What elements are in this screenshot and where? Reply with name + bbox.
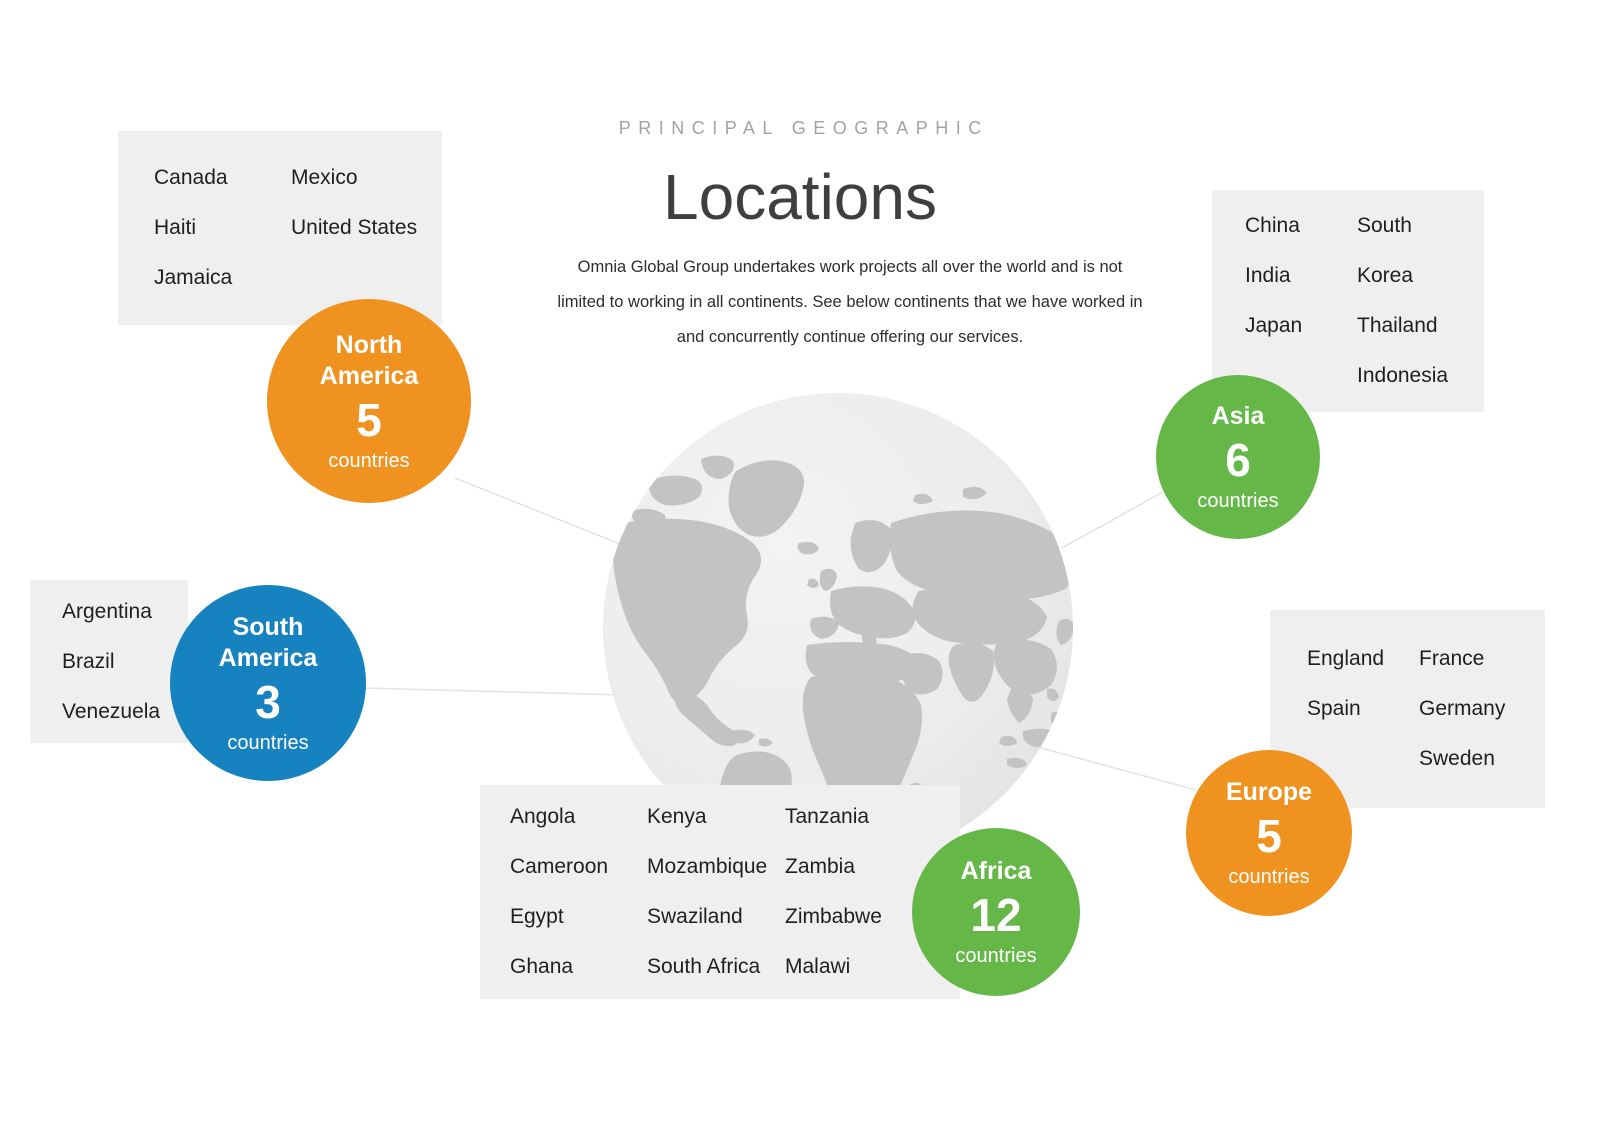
country-item: Angola — [510, 792, 647, 842]
country-item: China — [1245, 201, 1357, 251]
bubble-title-line1: Europe — [1226, 777, 1312, 808]
bubble-count: 12 — [970, 888, 1021, 942]
bubble-unit: countries — [328, 449, 409, 473]
country-item: Jamaica — [154, 253, 291, 303]
country-item: Venezuela — [62, 687, 188, 737]
country-item: Tanzania — [785, 792, 960, 842]
country-item: Germany — [1419, 684, 1545, 734]
bubble-unit: countries — [1197, 489, 1278, 513]
panel-africa-countries: Angola Kenya Tanzania Cameroon Mozambiqu… — [480, 785, 960, 999]
country-item: France — [1419, 634, 1545, 684]
bubble-south-america[interactable]: South America 3 countries — [170, 585, 366, 781]
country-item: Indonesia — [1357, 351, 1484, 401]
bubble-count: 5 — [1256, 809, 1282, 863]
connector-asia — [1062, 487, 1172, 548]
country-item: India — [1245, 251, 1357, 301]
country-item: Sweden — [1419, 734, 1545, 784]
country-item: Thailand — [1357, 301, 1484, 351]
locations-infographic-slide: PRINCIPAL GEOGRAPHIC Locations Omnia Glo… — [0, 0, 1600, 1148]
intro-paragraph: Omnia Global Group undertakes work proje… — [555, 250, 1145, 355]
country-item: Spain — [1307, 684, 1419, 734]
bubble-title-line1: Africa — [961, 856, 1032, 887]
country-item: Mozambique — [647, 842, 785, 892]
country-item: Egypt — [510, 892, 647, 942]
country-item: Japan — [1245, 301, 1357, 351]
bubble-count: 6 — [1225, 433, 1251, 487]
country-item: Ghana — [510, 942, 647, 992]
connector-south-america — [362, 688, 625, 695]
bubble-title-line2: America — [320, 361, 419, 392]
bubble-unit: countries — [227, 731, 308, 755]
bubble-count: 3 — [255, 675, 281, 729]
panel-south-america-countries: Argentina Brazil Venezuela — [30, 580, 188, 743]
bubble-unit: countries — [955, 944, 1036, 968]
bubble-north-america[interactable]: North America 5 countries — [267, 299, 471, 503]
country-item: Argentina — [62, 587, 188, 637]
bubble-africa[interactable]: Africa 12 countries — [912, 828, 1080, 996]
country-item: Korea — [1357, 251, 1484, 301]
country-item: Kenya — [647, 792, 785, 842]
country-item: United States — [291, 203, 442, 253]
bubble-title-line2: America — [219, 643, 318, 674]
country-item: Cameroon — [510, 842, 647, 892]
country-item: Mexico — [291, 153, 442, 203]
bubble-title-line1: North — [336, 330, 403, 361]
country-item: South — [1357, 201, 1484, 251]
country-item: Haiti — [154, 203, 291, 253]
panel-north-america-countries: Canada Mexico Haiti United States Jamaic… — [118, 131, 442, 325]
bubble-count: 5 — [356, 393, 382, 447]
bubble-europe[interactable]: Europe 5 countries — [1186, 750, 1352, 916]
country-item: South Africa — [647, 942, 785, 992]
country-item: Swaziland — [647, 892, 785, 942]
bubble-title-line1: Asia — [1212, 401, 1265, 432]
country-item: England — [1307, 634, 1419, 684]
country-item: Canada — [154, 153, 291, 203]
bubble-unit: countries — [1228, 865, 1309, 889]
bubble-asia[interactable]: Asia 6 countries — [1156, 375, 1320, 539]
bubble-title-line1: South — [233, 612, 304, 643]
